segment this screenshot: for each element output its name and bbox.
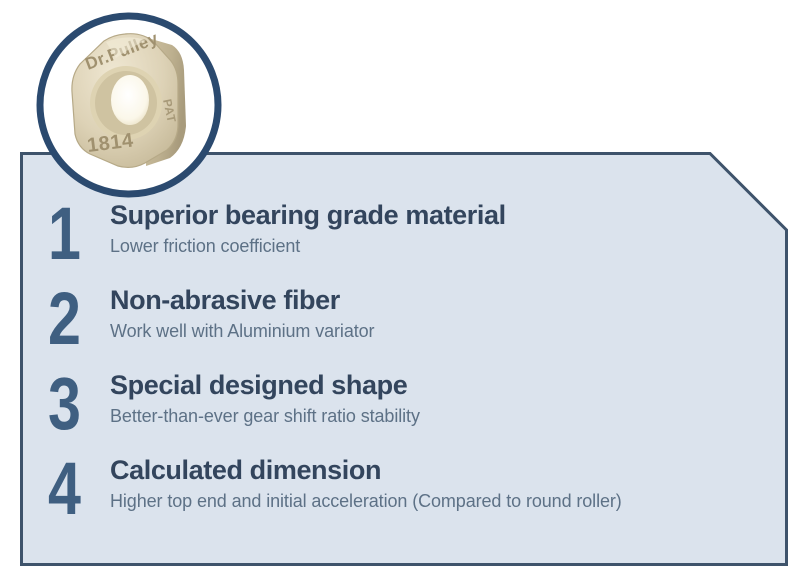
feature-subtitle: Lower friction coefficient <box>110 234 506 258</box>
feature-subtitle: Work well with Aluminium variator <box>110 319 374 343</box>
feature-number: 3 <box>48 368 96 440</box>
feature-text-block: Calculated dimension Higher top end and … <box>110 453 622 513</box>
roller-photo-icon: Dr.Pulley PAT 1814 <box>30 8 228 206</box>
feature-row: 2 Non-abrasive fiber Work well with Alum… <box>48 283 768 368</box>
feature-text-block: Special designed shape Better-than-ever … <box>110 368 420 428</box>
feature-row: 1 Superior bearing grade material Lower … <box>48 198 768 283</box>
feature-number: 2 <box>48 283 96 355</box>
feature-number: 1 <box>48 198 96 270</box>
product-badge: Dr.Pulley PAT 1814 <box>30 8 228 206</box>
feature-row: 3 Special designed shape Better-than-eve… <box>48 368 768 453</box>
feature-text-block: Superior bearing grade material Lower fr… <box>110 198 506 258</box>
feature-text-block: Non-abrasive fiber Work well with Alumin… <box>110 283 374 343</box>
roller-photo: Dr.Pulley PAT 1814 <box>30 8 228 206</box>
feature-title: Special designed shape <box>110 368 420 402</box>
feature-subtitle: Higher top end and initial acceleration … <box>110 489 622 513</box>
feature-list: 1 Superior bearing grade material Lower … <box>48 198 768 538</box>
feature-number: 4 <box>48 453 96 525</box>
feature-infographic: 1 Superior bearing grade material Lower … <box>0 0 800 582</box>
feature-title: Calculated dimension <box>110 453 622 487</box>
feature-row: 4 Calculated dimension Higher top end an… <box>48 453 768 538</box>
roller-bore-hole <box>111 75 149 125</box>
feature-title: Non-abrasive fiber <box>110 283 374 317</box>
feature-subtitle: Better-than-ever gear shift ratio stabil… <box>110 404 420 428</box>
